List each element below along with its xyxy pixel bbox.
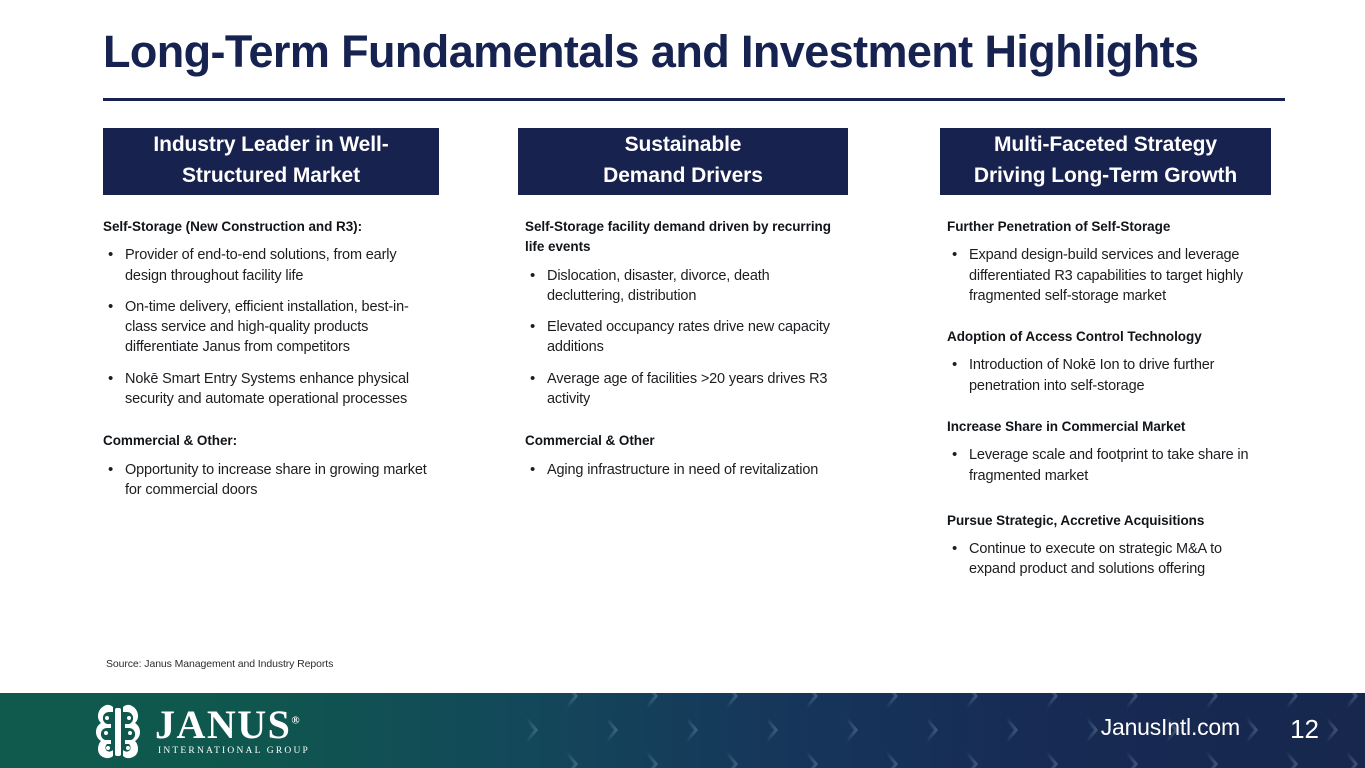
- group-commercial-other: Commercial & Other Aging infrastructure …: [525, 431, 848, 480]
- list-item: Expand design-build services and leverag…: [947, 245, 1271, 306]
- list-item: Aging infrastructure in need of revitali…: [525, 460, 848, 480]
- column-1-header-line1: Industry Leader in Well-: [153, 130, 388, 160]
- column-2-header: Sustainable Demand Drivers: [518, 128, 848, 195]
- group-self-storage: Self-Storage (New Construction and R3): …: [103, 217, 439, 409]
- group-heading: Self-Storage facility demand driven by r…: [525, 217, 848, 258]
- logo-wordmark: JANUS® INTERNATIONAL GROUP: [155, 706, 310, 756]
- group-heading: Self-Storage (New Construction and R3):: [103, 217, 439, 237]
- list-item: Elevated occupancy rates drive new capac…: [525, 317, 848, 358]
- bullet-list: Opportunity to increase share in growing…: [103, 460, 439, 501]
- column-strategy-growth: Multi-Faceted Strategy Driving Long-Term…: [940, 128, 1271, 586]
- column-industry-leader: Industry Leader in Well- Structured Mark…: [103, 128, 439, 506]
- group-life-events: Self-Storage facility demand driven by r…: [525, 217, 848, 409]
- bullet-list: Expand design-build services and leverag…: [947, 245, 1271, 306]
- group-heading: Further Penetration of Self-Storage: [947, 217, 1271, 237]
- bullet-list: Dislocation, disaster, divorce, death de…: [525, 266, 848, 410]
- list-item: Provider of end-to-end solutions, from e…: [103, 245, 439, 286]
- list-item: On-time delivery, efficient installation…: [103, 297, 439, 358]
- bullet-list: Continue to execute on strategic M&A to …: [947, 539, 1271, 580]
- column-1-header-line2: Structured Market: [182, 161, 360, 191]
- bullet-list: Provider of end-to-end solutions, from e…: [103, 245, 439, 409]
- column-2-body: Self-Storage facility demand driven by r…: [518, 195, 848, 480]
- footer-website[interactable]: JanusIntl.com: [1101, 714, 1240, 741]
- group-heading: Adoption of Access Control Technology: [947, 327, 1271, 347]
- group-access-control: Adoption of Access Control Technology In…: [947, 327, 1271, 396]
- list-item: Nokē Smart Entry Systems enhance physica…: [103, 369, 439, 410]
- group-commercial-other: Commercial & Other: Opportunity to incre…: [103, 431, 439, 500]
- group-commercial-market: Increase Share in Commercial Market Leve…: [947, 417, 1271, 486]
- group-further-penetration: Further Penetration of Self-Storage Expa…: [947, 217, 1271, 306]
- list-item: Dislocation, disaster, divorce, death de…: [525, 266, 848, 307]
- janus-emblem-icon: [90, 702, 146, 760]
- source-note: Source: Janus Management and Industry Re…: [106, 658, 333, 670]
- logo-word: JANUS®: [155, 706, 300, 744]
- column-1-header: Industry Leader in Well- Structured Mark…: [103, 128, 439, 195]
- bullet-list: Aging infrastructure in need of revitali…: [525, 460, 848, 480]
- column-3-header: Multi-Faceted Strategy Driving Long-Term…: [940, 128, 1271, 195]
- janus-logo: JANUS® INTERNATIONAL GROUP: [90, 702, 310, 760]
- list-item: Continue to execute on strategic M&A to …: [947, 539, 1271, 580]
- bullet-list: Introduction of Nokē Ion to drive furthe…: [947, 355, 1271, 396]
- logo-word-text: JANUS: [155, 702, 291, 747]
- page-title: Long-Term Fundamentals and Investment Hi…: [103, 28, 1285, 75]
- bullet-list: Leverage scale and footprint to take sha…: [947, 445, 1271, 486]
- column-2-header-line1: Sustainable: [625, 130, 742, 160]
- logo-subtitle: INTERNATIONAL GROUP: [155, 746, 310, 756]
- group-acquisitions: Pursue Strategic, Accretive Acquisitions…: [947, 511, 1271, 580]
- column-2-header-line2: Demand Drivers: [603, 161, 763, 191]
- column-1-body: Self-Storage (New Construction and R3): …: [103, 195, 439, 500]
- registered-mark-icon: ®: [291, 715, 299, 727]
- list-item: Introduction of Nokē Ion to drive furthe…: [947, 355, 1271, 396]
- group-heading: Pursue Strategic, Accretive Acquisitions: [947, 511, 1271, 531]
- page-number: 12: [1290, 714, 1319, 745]
- group-heading: Increase Share in Commercial Market: [947, 417, 1271, 437]
- group-heading: Commercial & Other: [525, 431, 848, 451]
- column-3-header-line1: Multi-Faceted Strategy: [994, 130, 1217, 160]
- column-demand-drivers: Sustainable Demand Drivers Self-Storage …: [518, 128, 848, 486]
- list-item: Leverage scale and footprint to take sha…: [947, 445, 1271, 486]
- slide-root: Long-Term Fundamentals and Investment Hi…: [0, 0, 1365, 768]
- group-heading: Commercial & Other:: [103, 431, 439, 451]
- list-item: Opportunity to increase share in growing…: [103, 460, 439, 501]
- column-3-header-line2: Driving Long-Term Growth: [974, 161, 1237, 191]
- list-item: Average age of facilities >20 years driv…: [525, 369, 848, 410]
- title-divider: [103, 98, 1285, 101]
- column-3-body: Further Penetration of Self-Storage Expa…: [940, 195, 1271, 580]
- page-title-container: Long-Term Fundamentals and Investment Hi…: [103, 28, 1285, 75]
